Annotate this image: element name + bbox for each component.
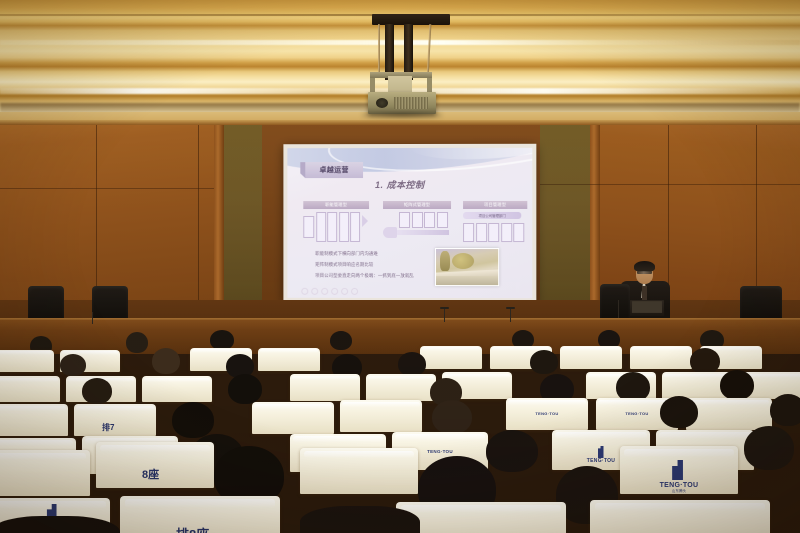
projector-cable — [378, 24, 380, 76]
attendee-head — [210, 330, 234, 350]
projector-vent-icon — [394, 97, 428, 109]
chair-logo-text: TENG·TOU — [535, 412, 558, 416]
chair-logo: TENG·TOU — [625, 412, 648, 416]
microphone-head-icon — [506, 307, 515, 309]
attendee-head — [530, 350, 558, 374]
chair-logo-text: TENG·TOU — [660, 482, 699, 489]
seat[interactable] — [590, 500, 770, 533]
microphone — [510, 308, 511, 322]
seat[interactable] — [300, 448, 418, 494]
slide-surface: 卓越运营 1. 成本控制 职能管理型 矩阵式管理型 — [287, 148, 532, 298]
microphone-head-icon — [440, 307, 449, 309]
attendee-head — [60, 354, 86, 376]
attendee-head — [660, 396, 698, 428]
attendee-head — [690, 348, 720, 374]
attendee-head — [330, 331, 352, 350]
slide-badge: 卓越运营 — [305, 162, 363, 178]
slide-body-line-3: 项目公司型委直走向两个极端：一抓到底一放就乱 — [315, 273, 427, 279]
projector-shadow — [362, 112, 442, 118]
seat[interactable] — [686, 398, 772, 430]
seat[interactable] — [0, 376, 60, 402]
laptop — [630, 300, 664, 316]
diagram-project: 项目管理型 项目公司管理部门 — [463, 201, 527, 242]
seat[interactable] — [630, 346, 692, 369]
tengtou-building-icon — [670, 460, 688, 480]
chair-logo: TENG·TOU — [587, 446, 615, 464]
matrix-bar-label: 项目公司管理部门 — [479, 213, 506, 218]
attendee-head — [172, 402, 214, 438]
diagram-matrix: 矩阵式管理型 — [383, 201, 451, 228]
seat[interactable] — [0, 404, 68, 436]
chair-logo-text: TENG·TOU — [587, 459, 615, 464]
chair-logo: TENG·TOU — [427, 450, 453, 455]
seat[interactable] — [290, 374, 360, 401]
attendee-head — [82, 378, 112, 404]
slide-badge-label: 卓越运营 — [319, 165, 348, 175]
diagram-header: 项目管理型 — [463, 201, 527, 209]
attendee-head — [770, 394, 800, 426]
attendee-head — [486, 430, 538, 472]
seat[interactable]: TENG·TOU — [506, 398, 588, 430]
microphone — [92, 312, 93, 324]
slide-body-line-2: 矩阵制模式项目响应名期比较 — [315, 262, 373, 268]
microphone — [618, 300, 619, 318]
projection-screen: 卓越运营 1. 成本控制 职能管理型 矩阵式管理型 — [283, 144, 536, 302]
seat[interactable] — [252, 402, 334, 434]
seat[interactable] — [0, 350, 54, 372]
audience-seating: 排7 TENG·TOU TENG·TOU TENG·TOU — [0, 330, 800, 533]
attendee-head — [720, 370, 754, 400]
seat-row-label: 排7 — [102, 422, 114, 433]
attendee-shoulders — [300, 506, 420, 533]
cove-light-upper — [0, 40, 800, 45]
slide-title: 1. 成本控制 — [375, 178, 424, 191]
chair-logo-text: TENG·TOU — [625, 412, 648, 416]
attendee-head — [432, 400, 472, 434]
wall-top-trim — [0, 120, 800, 125]
seat-row7[interactable]: 排7 — [74, 404, 156, 436]
seat[interactable] — [258, 348, 320, 371]
seat-logo[interactable]: TENG·TOU 山东腾头 — [620, 446, 738, 494]
seat[interactable] — [396, 502, 566, 533]
ceiling-mounted-projector — [368, 92, 436, 114]
seat-row8[interactable]: 排8座 — [120, 496, 280, 533]
seat-8[interactable]: 8座 — [96, 442, 214, 488]
chair-logo-text: TENG·TOU — [427, 450, 453, 455]
diagram-functional: 职能管理型 — [303, 201, 369, 242]
seat-row-seat-label: 排8座 — [176, 524, 209, 533]
slide-body-line-1: 职能制模式下横向部门内沟通难 — [315, 251, 378, 257]
attendee-head — [126, 332, 148, 353]
slide-footer-dots — [301, 288, 358, 295]
attendee-head — [228, 374, 262, 404]
diagram-header: 矩阵式管理型 — [383, 201, 451, 209]
seat[interactable] — [560, 346, 622, 369]
projector-lens-icon — [376, 98, 388, 108]
seat-number-label: 8座 — [142, 466, 159, 482]
slide-thumbnail-image — [435, 248, 499, 286]
chair-logo: TENG·TOU — [535, 412, 558, 416]
attendee-head — [152, 348, 180, 374]
seat[interactable] — [366, 374, 436, 401]
seat[interactable] — [420, 346, 482, 369]
seat[interactable] — [0, 450, 90, 496]
seat[interactable] — [142, 376, 212, 402]
diagram-header: 职能管理型 — [303, 201, 369, 209]
chair-logo: TENG·TOU 山东腾头 — [660, 460, 699, 494]
attendee-head — [744, 426, 794, 470]
chair-logo-subtext: 山东腾头 — [672, 490, 686, 494]
tengtou-building-icon — [596, 446, 606, 458]
microphone — [444, 308, 445, 322]
seat[interactable] — [340, 400, 422, 432]
speaker-tie — [642, 286, 647, 300]
attendee-head — [398, 352, 426, 376]
conference-hall-photo: 卓越运营 1. 成本控制 职能管理型 矩阵式管理型 — [0, 0, 800, 533]
speaker-glasses-icon — [637, 271, 652, 274]
